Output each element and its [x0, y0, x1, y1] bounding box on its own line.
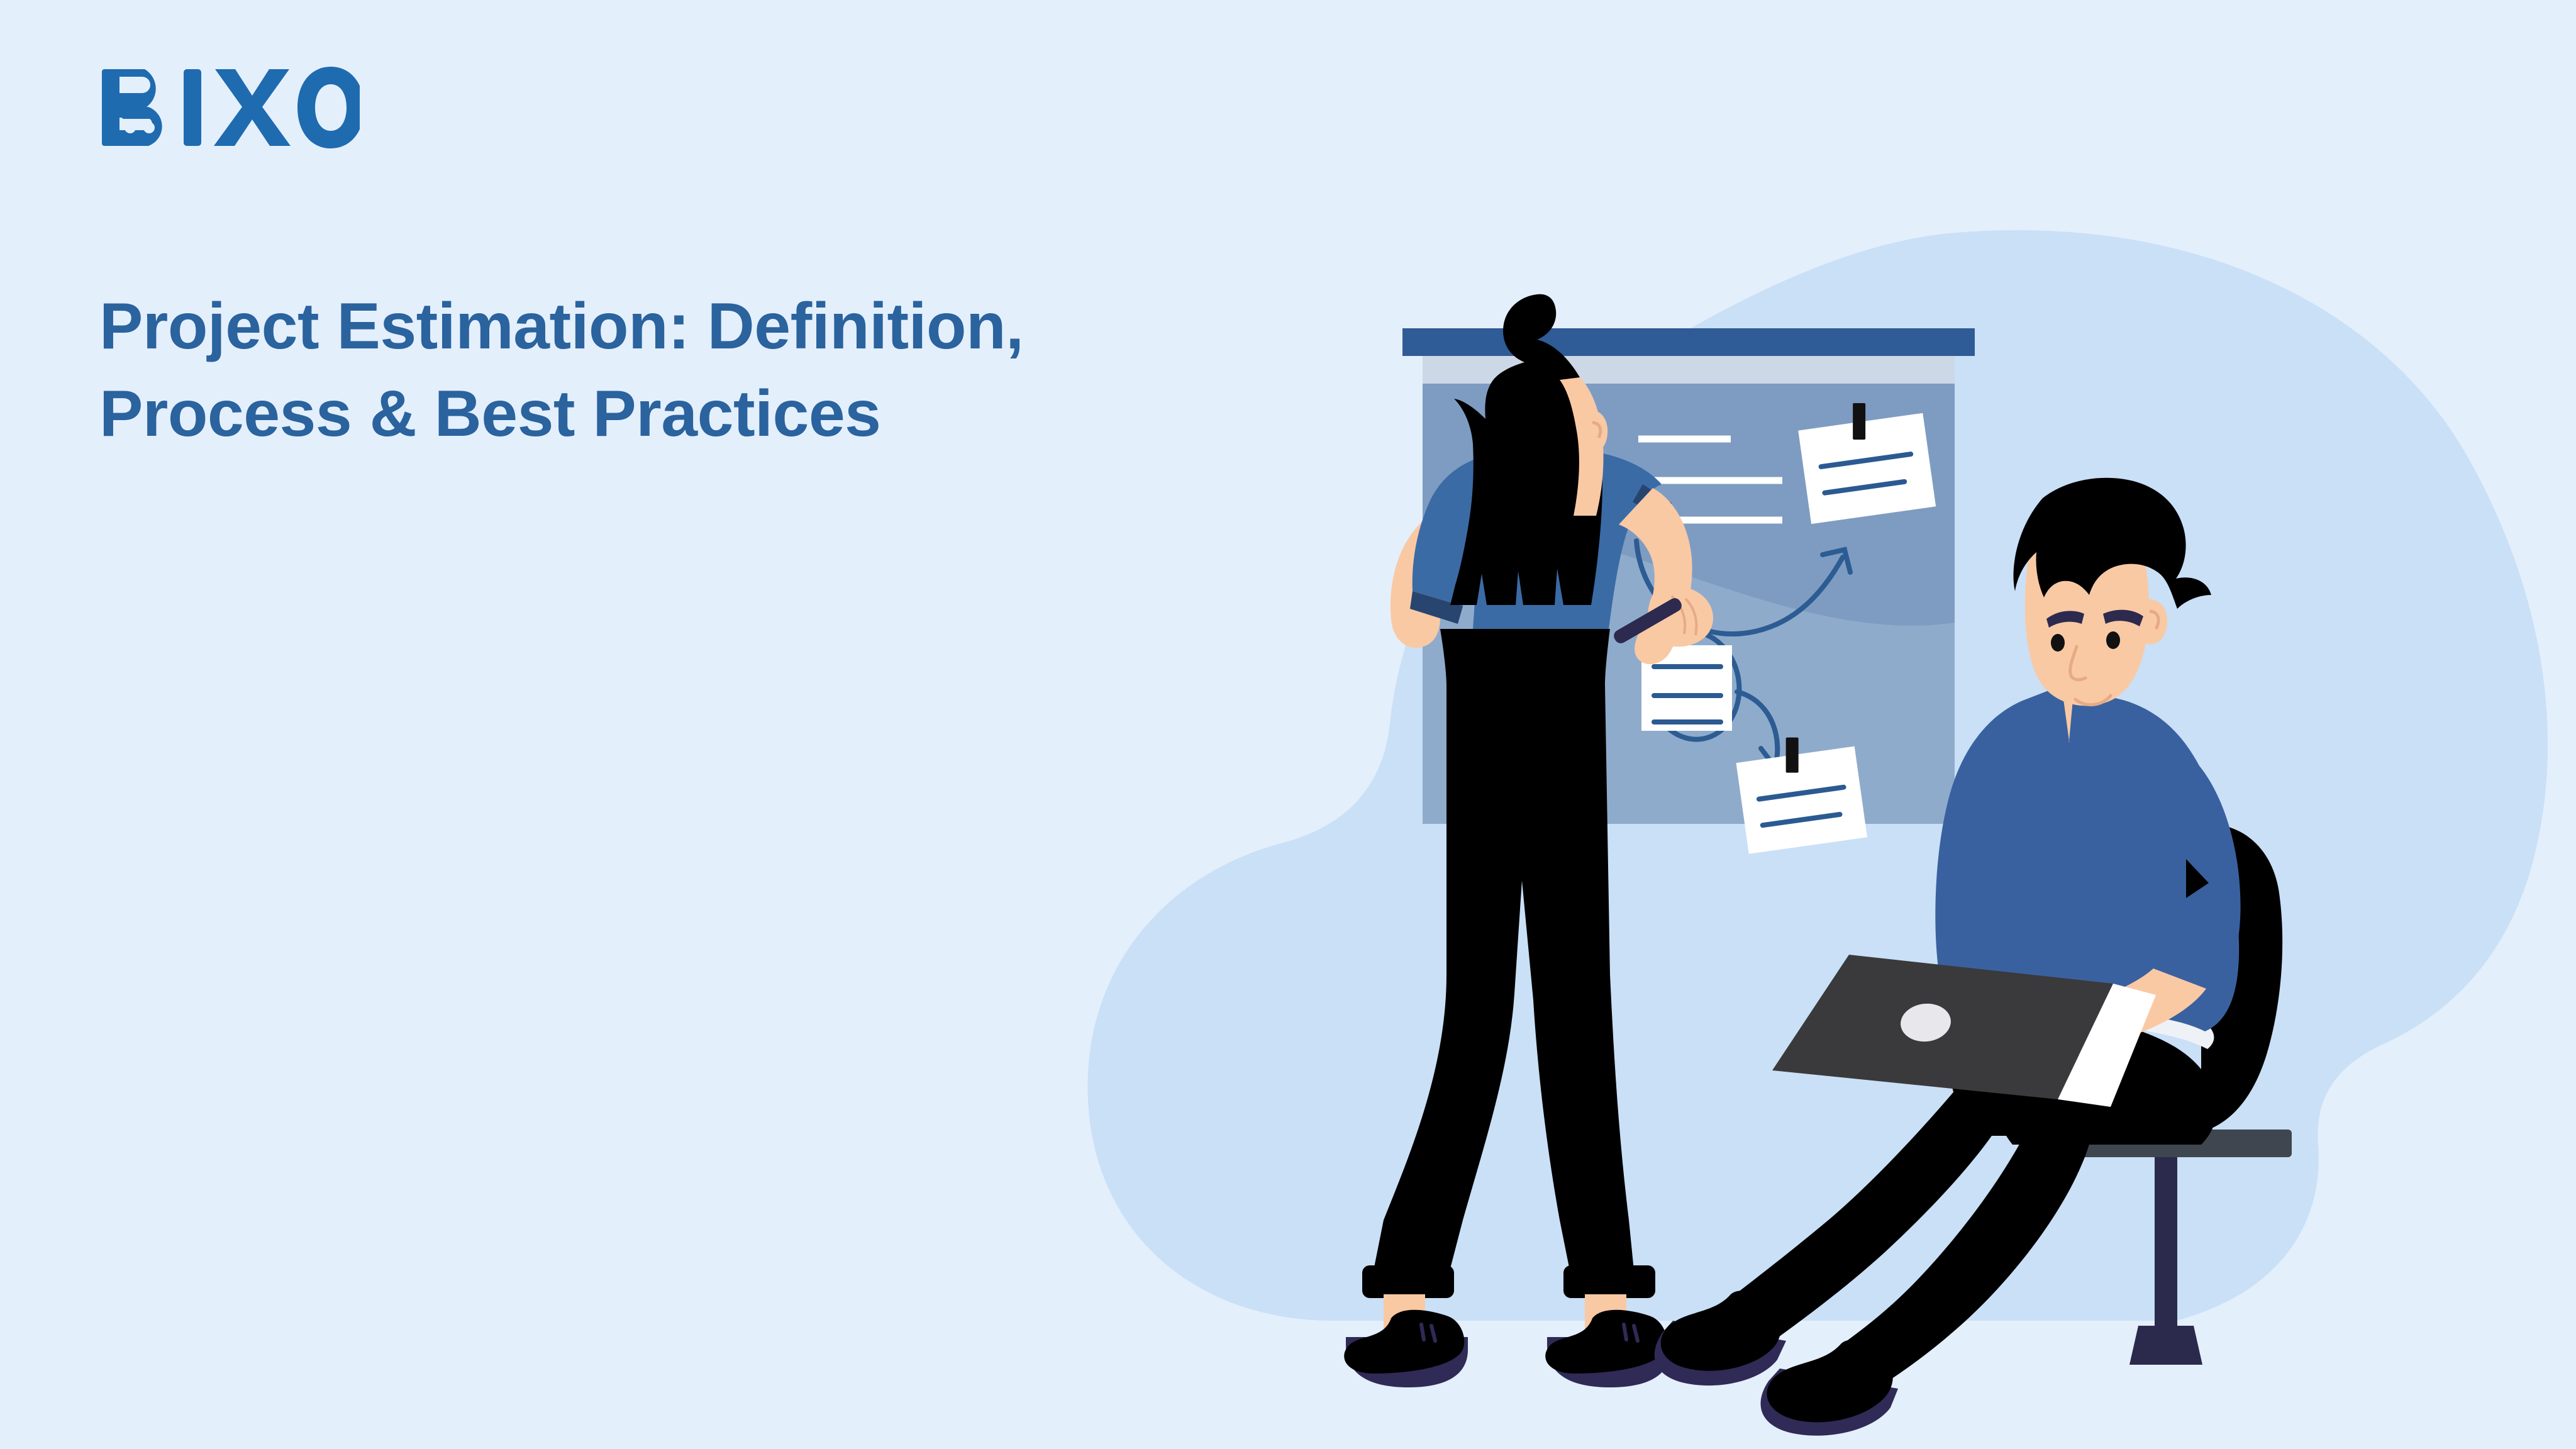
bixo-logo-svg [96, 60, 360, 155]
woman-shoe-right [1545, 1310, 1670, 1387]
bixo-logo[interactable] [96, 60, 360, 155]
robot-eye-left [125, 122, 136, 133]
robot-eye-right [143, 122, 155, 133]
illustration-svg [1006, 189, 2576, 1449]
chair-post [2155, 1157, 2177, 1326]
chair-foot [2129, 1326, 2202, 1365]
woman-pant-cuff-left [1362, 1265, 1454, 1298]
sticky-note-pin [1786, 738, 1799, 773]
banner-canvas: Project Estimation: Definition, Process … [0, 0, 2576, 1449]
sticky-note-pin [1853, 403, 1865, 440]
woman-shoe-left [1344, 1310, 1468, 1387]
hero-illustration [1006, 189, 2576, 1449]
man-shoe-back [1760, 1340, 1898, 1436]
man-eye-right [2106, 631, 2120, 649]
man-eye-left [2051, 634, 2065, 652]
woman-pant-cuff-right [1563, 1265, 1655, 1298]
whiteboard-top-bar [1402, 328, 1975, 356]
